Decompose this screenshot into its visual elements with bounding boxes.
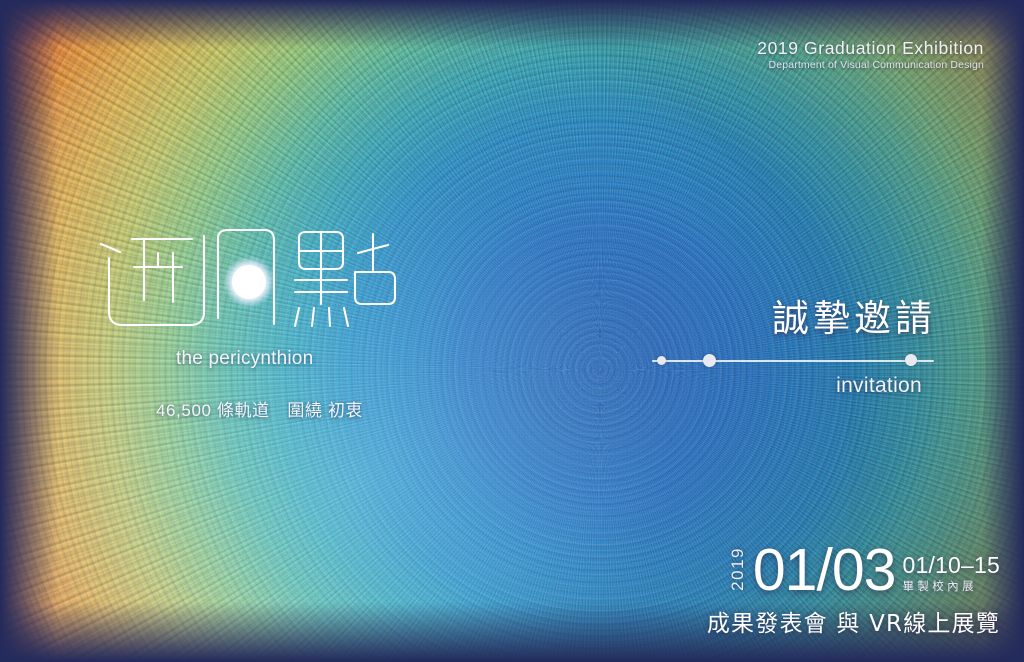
logotype-subtitle: the pericynthion [176, 348, 313, 370]
tagline: 46,500 條軌道 圍繞 初衷 [156, 396, 363, 421]
invitation-block: 誠摯邀請 invitation [640, 300, 940, 398]
exhibition-department: Department of Visual Communication Desig… [757, 59, 984, 71]
date-block: 2019 01/03 01/10–15 畢製校內展 成果發表會 與 VR線上展覽 [707, 542, 1000, 638]
poster-canvas: 2019 Graduation Exhibition Department of… [0, 0, 1024, 662]
rule-dot-2 [703, 354, 716, 367]
logotype: the pericynthion [96, 222, 396, 352]
invitation-title-cn: 誠摯邀請 [640, 300, 940, 339]
date-primary: 01/03 [753, 542, 896, 598]
event-footer: 成果發表會 與 VR線上展覽 [707, 604, 1000, 638]
glyph-dian [295, 232, 395, 326]
date-row: 2019 01/03 01/10–15 畢製校內展 [707, 542, 1000, 598]
foreground-content: 2019 Graduation Exhibition Department of… [0, 0, 1024, 662]
date-secondary-label: 畢製校內展 [902, 578, 1000, 594]
rule-dot-3 [905, 354, 917, 366]
rule-dot-1 [657, 356, 666, 365]
invitation-title-en: invitation [640, 374, 940, 398]
rule-line [652, 360, 934, 362]
invitation-rule [640, 354, 940, 368]
exhibition-title: 2019 Graduation Exhibition [757, 38, 984, 58]
date-secondary-group: 01/10–15 畢製校內展 [902, 553, 1000, 594]
logotype-artwork [96, 222, 396, 347]
glyph-jin [101, 236, 204, 325]
date-year: 2019 [729, 547, 746, 591]
exhibition-header: 2019 Graduation Exhibition Department of… [757, 38, 984, 71]
date-secondary: 01/10–15 [902, 553, 1000, 577]
moon-core-icon [232, 265, 266, 299]
